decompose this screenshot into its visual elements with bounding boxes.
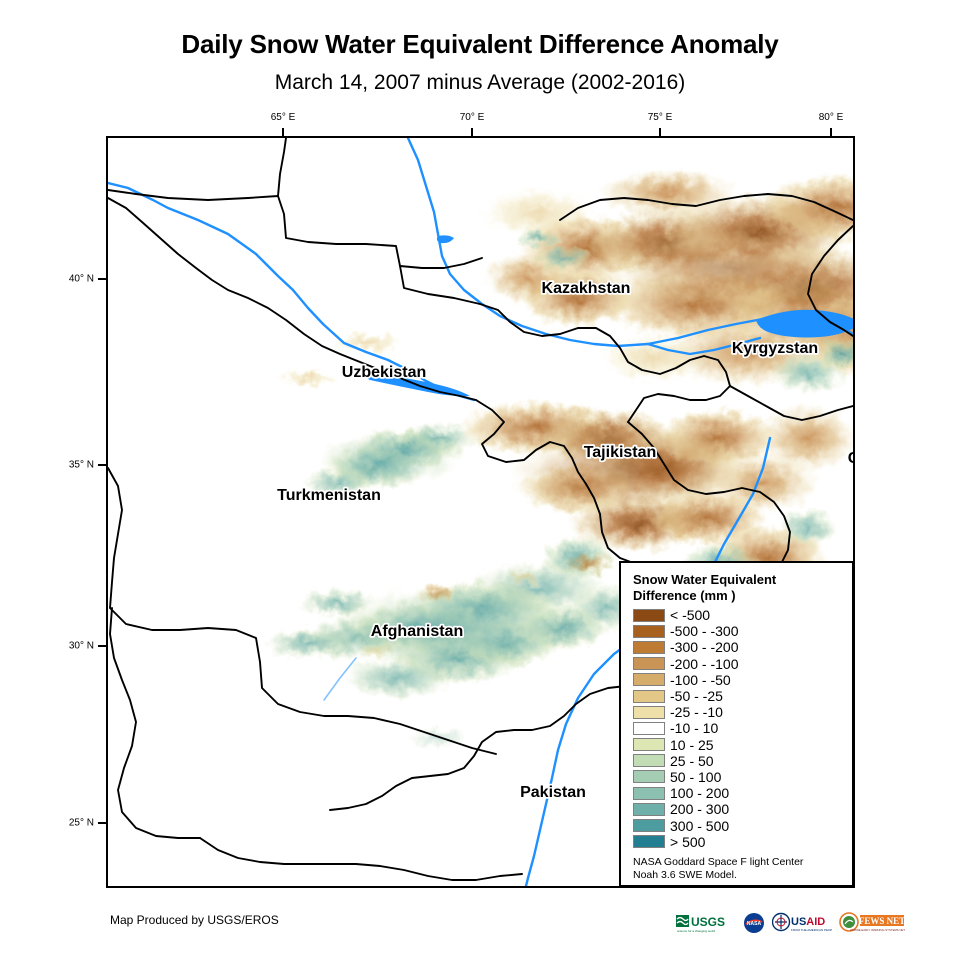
- legend-title: Snow Water Equivalent Difference (mm ): [633, 572, 848, 603]
- legend-color-swatch: [633, 706, 665, 719]
- map-page: Daily Snow Water Equivalent Difference A…: [0, 0, 960, 960]
- country-label-tajikistan: Tajikistan: [584, 444, 657, 461]
- lon-tick-70: [471, 128, 473, 136]
- legend-class-row[interactable]: 25 - 50: [633, 753, 852, 769]
- legend-color-swatch: [633, 657, 665, 670]
- legend-color-swatch: [633, 770, 665, 783]
- lat-tick-40: [98, 278, 106, 280]
- legend-class-row[interactable]: -300 - -200: [633, 639, 852, 655]
- legend-class-label: -300 - -200: [670, 640, 738, 654]
- legend-class-label: 300 - 500: [670, 819, 729, 833]
- legend-color-swatch: [633, 787, 665, 800]
- svg-text:science for a changing world: science for a changing world: [677, 929, 715, 933]
- lon-label-75: 75° E: [648, 112, 673, 123]
- lon-label-70: 70° E: [460, 112, 485, 123]
- legend-class-list: < -500-500 - -300-300 - -200-200 - -100-…: [633, 607, 852, 850]
- legend-class-label: 100 - 200: [670, 786, 729, 800]
- legend-color-swatch: [633, 819, 665, 832]
- lon-tick-75: [659, 128, 661, 136]
- legend-class-row[interactable]: -100 - -50: [633, 672, 852, 688]
- legend-color-swatch: [633, 625, 665, 638]
- legend-title-line2: Difference (mm ): [633, 588, 848, 604]
- country-label-afghanistan: Afghanistan: [371, 623, 463, 640]
- legend-box[interactable]: Snow Water Equivalent Difference (mm ) <…: [619, 561, 854, 887]
- lon-tick-65: [282, 128, 284, 136]
- svg-text:FEWS NET: FEWS NET: [859, 916, 905, 926]
- fewsnet-logo[interactable]: FEWS NET FAMINE EARLY WARNING SYSTEMS NE…: [839, 912, 905, 934]
- legend-class-label: -100 - -50: [670, 673, 731, 687]
- legend-class-label: -500 - -300: [670, 624, 738, 638]
- legend-class-label: > 500: [670, 835, 705, 849]
- legend-class-label: 10 - 25: [670, 738, 714, 752]
- legend-class-label: -200 - -100: [670, 657, 738, 671]
- legend-class-row[interactable]: > 500: [633, 834, 852, 850]
- legend-class-row[interactable]: 200 - 300: [633, 801, 852, 817]
- page-title: Daily Snow Water Equivalent Difference A…: [0, 29, 960, 60]
- svg-text:USGS: USGS: [691, 915, 725, 929]
- legend-class-row[interactable]: 100 - 200: [633, 785, 852, 801]
- usgs-logo[interactable]: USGS science for a changing world: [676, 912, 736, 934]
- country-label-pakistan: Pakistan: [520, 784, 586, 801]
- legend-class-row[interactable]: < -500: [633, 607, 852, 623]
- legend-color-swatch: [633, 722, 665, 735]
- legend-color-swatch: [633, 835, 665, 848]
- lat-label-30: 30° N: [69, 641, 94, 652]
- legend-color-swatch: [633, 738, 665, 751]
- legend-class-row[interactable]: -10 - 10: [633, 720, 852, 736]
- legend-class-row[interactable]: -200 - -100: [633, 656, 852, 672]
- lat-label-35: 35° N: [69, 460, 94, 471]
- lat-tick-35: [98, 464, 106, 466]
- svg-text:FAMINE EARLY WARNING SYSTEMS N: FAMINE EARLY WARNING SYSTEMS NETWORK: [850, 928, 905, 932]
- lon-label-65: 65° E: [271, 112, 296, 123]
- country-label-kyrgyzstan: Kyrgyzstan: [732, 340, 818, 357]
- legend-class-row[interactable]: 50 - 100: [633, 769, 852, 785]
- agency-logo-bar: USGS science for a changing world NASA U…: [676, 910, 905, 936]
- nasa-logo[interactable]: NASA: [743, 912, 765, 934]
- legend-class-label: -50 - -25: [670, 689, 723, 703]
- legend-source-line1: NASA Goddard Space F light Center: [633, 856, 848, 869]
- lon-label-80: 80° E: [819, 112, 844, 123]
- legend-color-swatch: [633, 690, 665, 703]
- legend-source: NASA Goddard Space F light Center Noah 3…: [633, 856, 848, 882]
- map-credit: Map Produced by USGS/EROS: [110, 913, 279, 927]
- legend-class-row[interactable]: -25 - -10: [633, 704, 852, 720]
- lat-label-25: 25° N: [69, 818, 94, 829]
- legend-color-swatch: [633, 641, 665, 654]
- page-subtitle: March 14, 2007 minus Average (2002-2016): [0, 71, 960, 95]
- country-label-kazakhstan: Kazakhstan: [542, 280, 631, 297]
- legend-color-swatch: [633, 754, 665, 767]
- country-label-turkmenistan: Turkmenistan: [277, 487, 381, 504]
- legend-title-line1: Snow Water Equivalent: [633, 572, 848, 588]
- legend-class-row[interactable]: -50 - -25: [633, 688, 852, 704]
- svg-text:NASA: NASA: [747, 921, 762, 927]
- svg-text:FROM THE AMERICAN PEOPLE: FROM THE AMERICAN PEOPLE: [791, 928, 832, 932]
- usaid-logo[interactable]: USAID FROM THE AMERICAN PEOPLE: [772, 912, 832, 934]
- legend-color-swatch: [633, 803, 665, 816]
- legend-class-label: 200 - 300: [670, 802, 729, 816]
- legend-class-label: 25 - 50: [670, 754, 714, 768]
- legend-class-label: -25 - -10: [670, 705, 723, 719]
- svg-text:USAID: USAID: [791, 916, 825, 928]
- legend-source-line2: Noah 3.6 SWE Model.: [633, 869, 848, 882]
- legend-class-label: < -500: [670, 608, 710, 622]
- lat-label-40: 40° N: [69, 274, 94, 285]
- legend-class-label: -10 - 10: [670, 721, 718, 735]
- legend-class-row[interactable]: 300 - 500: [633, 817, 852, 833]
- legend-class-row[interactable]: -500 - -300: [633, 623, 852, 639]
- legend-class-label: 50 - 100: [670, 770, 721, 784]
- country-label-china: China: [848, 450, 853, 467]
- legend-color-swatch: [633, 673, 665, 686]
- legend-color-swatch: [633, 609, 665, 622]
- lat-tick-30: [98, 645, 106, 647]
- legend-class-row[interactable]: 10 - 25: [633, 737, 852, 753]
- country-label-uzbekistan: Uzbekistan: [342, 364, 426, 381]
- lon-tick-80: [830, 128, 832, 136]
- lat-tick-25: [98, 822, 106, 824]
